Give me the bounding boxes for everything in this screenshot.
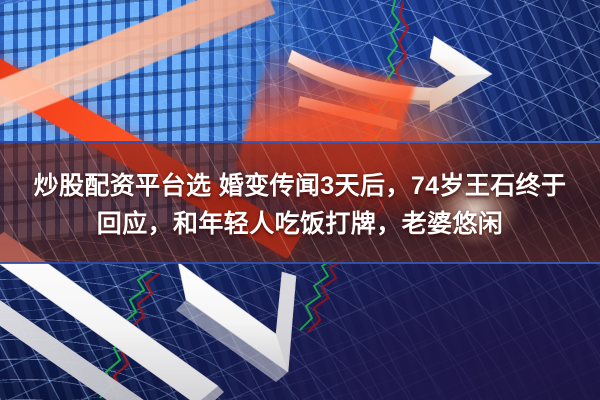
headline-line-2: 回应，和年轻人吃饭打牌，老婆悠闲 [97,207,503,241]
headline-line-1: 炒股配资平台选 婚变传闻3天后，74岁王石终于 [34,169,567,203]
thumbnail-image: 炒股配资平台选 婚变传闻3天后，74岁王石终于 回应，和年轻人吃饭打牌，老婆悠闲 [0,0,600,400]
headline-text-block: 炒股配资平台选 婚变传闻3天后，74岁王石终于 回应，和年轻人吃饭打牌，老婆悠闲 [0,152,600,257]
